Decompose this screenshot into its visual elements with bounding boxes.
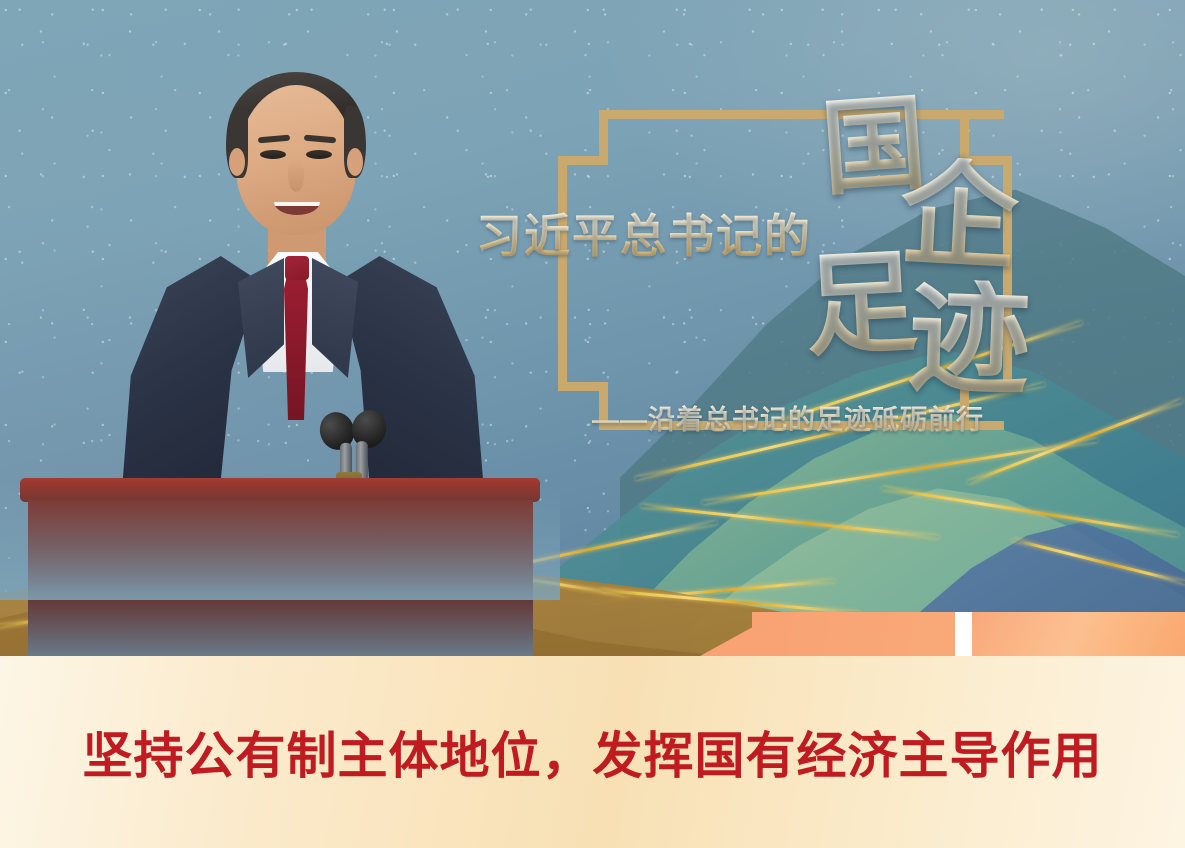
orange-band-gap bbox=[955, 612, 972, 656]
poster-canvas: 习近平总书记的 国 企 足 迹 ——沿着总书记的足迹砥砺前行 坚持公有制主体地位… bbox=[0, 0, 1185, 848]
calligraphy-char-zu: 足 bbox=[802, 247, 920, 365]
title-prefix: 习近平总书记的 bbox=[476, 200, 812, 266]
ear-left bbox=[229, 148, 245, 176]
podium-top-edge bbox=[20, 478, 540, 502]
frame-bar-top bbox=[602, 110, 1004, 119]
orange-band-right bbox=[972, 612, 1185, 656]
nose bbox=[288, 160, 304, 192]
orange-band-left bbox=[752, 612, 955, 656]
tie-knot bbox=[285, 256, 309, 280]
frame-corner-topleft-v bbox=[599, 110, 608, 162]
eye-right bbox=[306, 150, 332, 159]
eye-left bbox=[260, 150, 286, 159]
calligraphy-char-ji: 迹 bbox=[906, 278, 1032, 404]
caption-headline: 坚持公有制主体地位，发挥国有经济主导作用 bbox=[0, 656, 1185, 848]
subtitle: ——沿着总书记的足迹砥砺前行 bbox=[592, 398, 984, 437]
podium-fade-out bbox=[28, 580, 533, 660]
ear-right bbox=[347, 148, 363, 176]
calligraphy-char-qi: 企 bbox=[897, 155, 1021, 279]
speaker-portrait bbox=[0, 60, 560, 600]
frame-bar-left bbox=[558, 156, 567, 390]
